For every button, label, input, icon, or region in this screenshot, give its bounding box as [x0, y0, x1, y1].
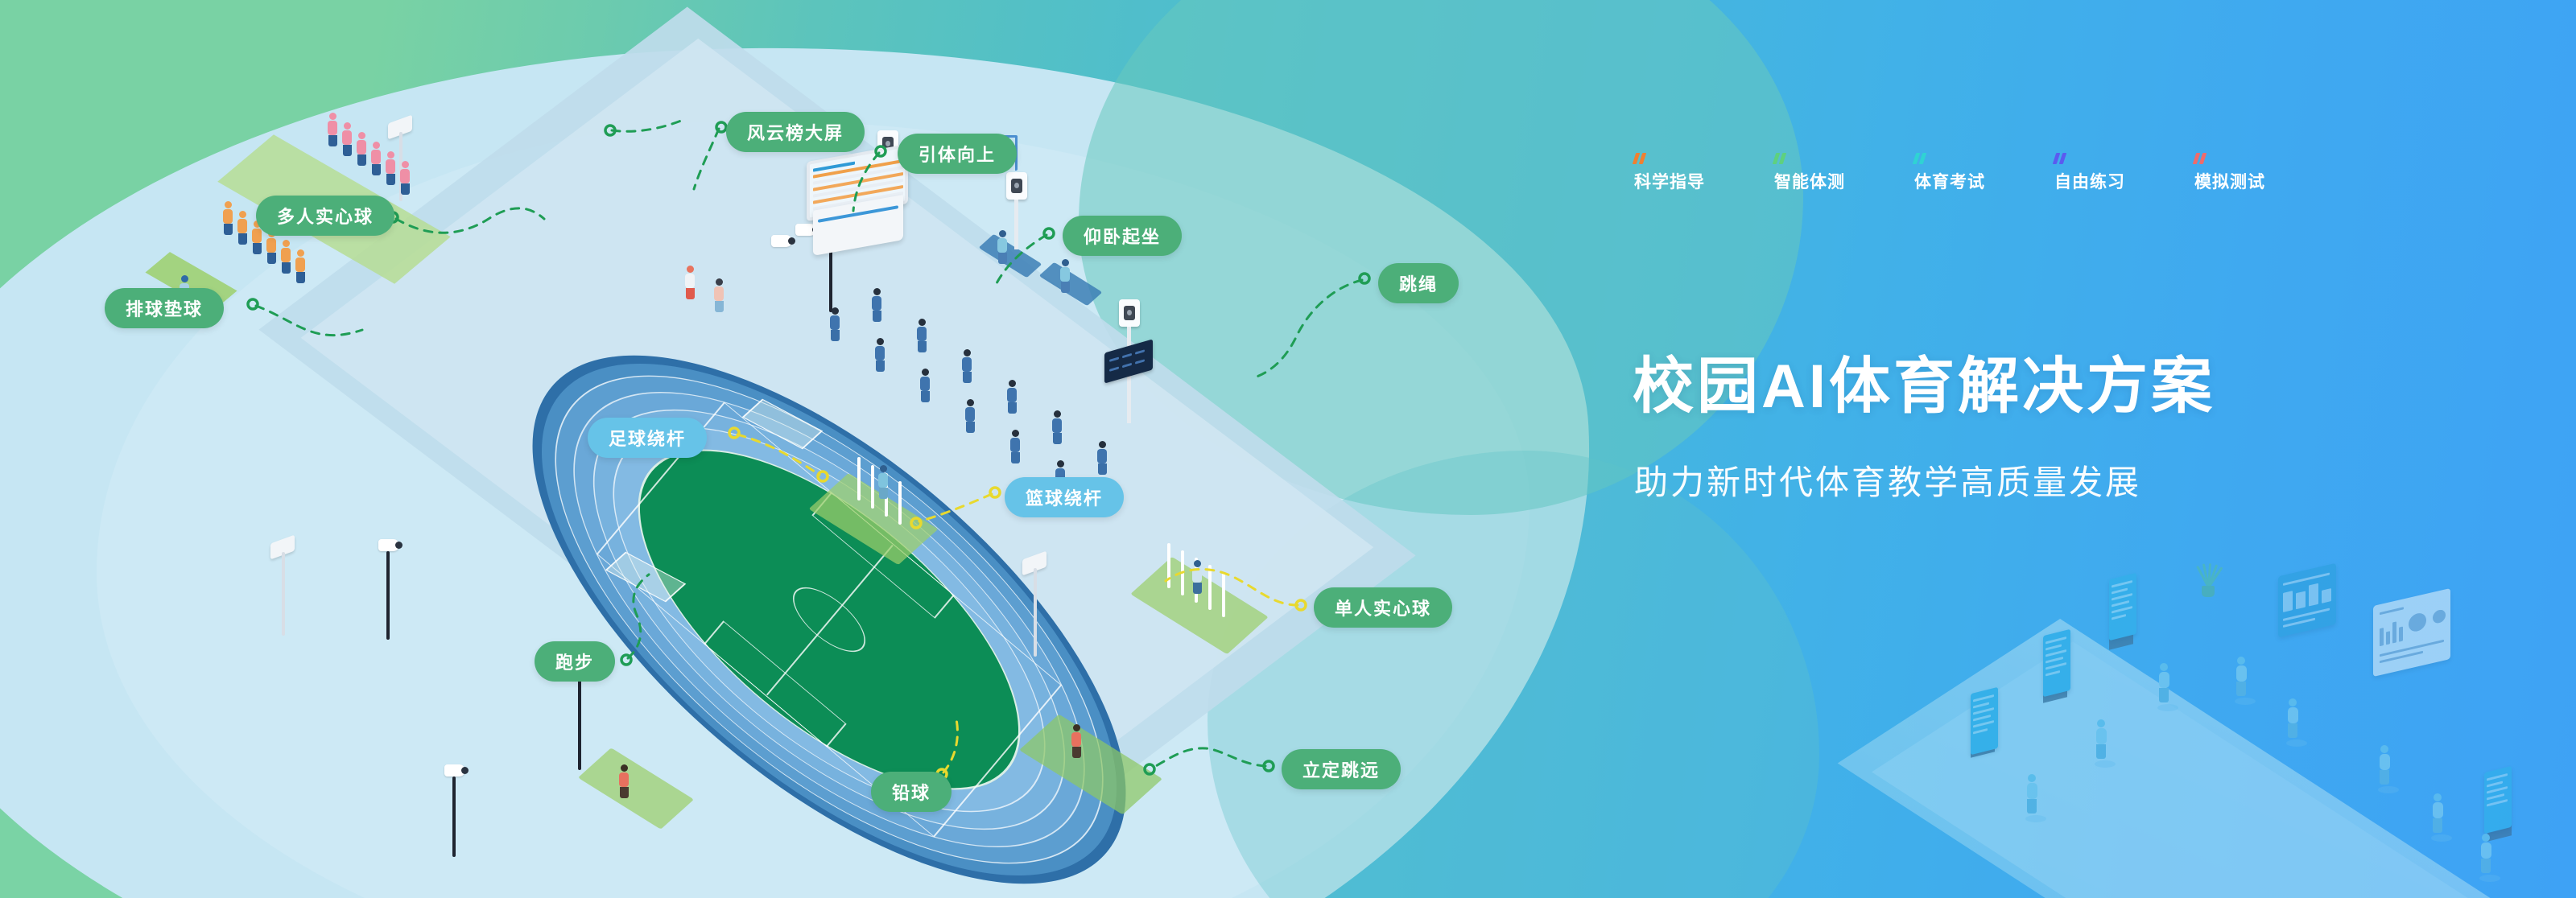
feature-tag-kexuezhidao[interactable]: 科学指导 [1634, 153, 1705, 193]
hotspot-duorenshixinqiu[interactable]: 多人实心球 [256, 196, 394, 236]
hotspot-qianqiu[interactable]: 铅球 [871, 772, 952, 812]
page-subtitle: 助力新时代体育教学高质量发展 [1634, 455, 2141, 505]
hotspot-zuqiuraogan[interactable]: 足球绕杆 [588, 418, 707, 458]
feature-tag-label: 智能体测 [1774, 169, 1845, 193]
hotspot-label: 跑步 [555, 649, 594, 674]
hotspot-label: 单人实心球 [1335, 595, 1431, 620]
runner-1 [684, 266, 696, 299]
hotspot-label: 篮球绕杆 [1026, 484, 1103, 510]
double-slash-icon [1773, 153, 1847, 164]
leaderboard-kiosk [807, 153, 908, 248]
hotspot-danrenshixinqiu[interactable]: 单人实心球 [1314, 587, 1452, 628]
feature-tag-list: 科学指导 智能体测 体育考试 自由练习 [1634, 153, 2265, 193]
hotspot-label: 立定跳远 [1302, 756, 1380, 782]
hotspot-label: 仰卧起坐 [1084, 223, 1161, 249]
hotspot-yangwoqizuo[interactable]: 仰卧起坐 [1063, 216, 1182, 256]
feature-tag-label: 自由练习 [2054, 169, 2125, 193]
hotspot-label: 跳绳 [1399, 270, 1438, 296]
hotspot-label: 排球垫球 [126, 295, 203, 321]
feature-tag-label: 科学指导 [1634, 169, 1705, 193]
hotspot-fengyunbangdaping[interactable]: 风云榜大屏 [726, 112, 865, 152]
feature-tag-label: 体育考试 [1914, 169, 1985, 193]
feature-tag-zhinengticе[interactable]: 智能体测 [1774, 153, 1845, 193]
feature-tag-label: 模拟测试 [2194, 169, 2265, 193]
right-content-panel: 科学指导 智能体测 体育考试 自由练习 [1626, 0, 2576, 898]
hotspot-label: 足球绕杆 [609, 425, 686, 451]
hotspot-label: 风云榜大屏 [747, 119, 844, 145]
runner-2 [713, 278, 724, 312]
long-jump-athlete [1071, 724, 1082, 758]
basketball-dribbler [1191, 560, 1203, 594]
situp-athlete-1 [997, 230, 1008, 264]
situp-athlete-2 [1059, 259, 1071, 293]
banner-stage: 排球垫球 多人实心球 风云榜大屏 引体向上 仰卧起坐 跳绳 足球绕杆 篮球绕杆 … [0, 0, 2576, 898]
hotspot-label: 引体向上 [919, 141, 996, 167]
double-slash-icon [2193, 153, 2268, 164]
page-title: 校园AI体育解决方案 [1633, 336, 2215, 425]
double-slash-icon [2053, 153, 2128, 164]
hotspot-tiaosheng[interactable]: 跳绳 [1378, 263, 1459, 303]
double-slash-icon [1633, 153, 1707, 164]
hotspot-paobu[interactable]: 跑步 [535, 641, 615, 682]
hotspot-lidingtiaoyuan[interactable]: 立定跳远 [1282, 749, 1401, 789]
hotspot-lanqiuraogan[interactable]: 篮球绕杆 [1005, 477, 1124, 517]
hotspot-label: 铅球 [892, 779, 931, 805]
shot-put-athlete-2 [618, 764, 630, 798]
double-slash-icon [1913, 153, 1988, 164]
feature-tag-tiyukaoshi[interactable]: 体育考试 [1914, 153, 1985, 193]
soccer-dribbler [877, 465, 889, 499]
hotspot-label: 多人实心球 [277, 203, 374, 229]
hotspot-yintixiangshang[interactable]: 引体向上 [898, 134, 1017, 174]
isometric-sports-field-illustration [266, 105, 1409, 781]
feature-tag-moniceshi[interactable]: 模拟测试 [2194, 153, 2265, 193]
feature-tag-ziyoulianxi[interactable]: 自由练习 [2054, 153, 2125, 193]
hotspot-paiqiudianqiu[interactable]: 排球垫球 [105, 288, 224, 328]
